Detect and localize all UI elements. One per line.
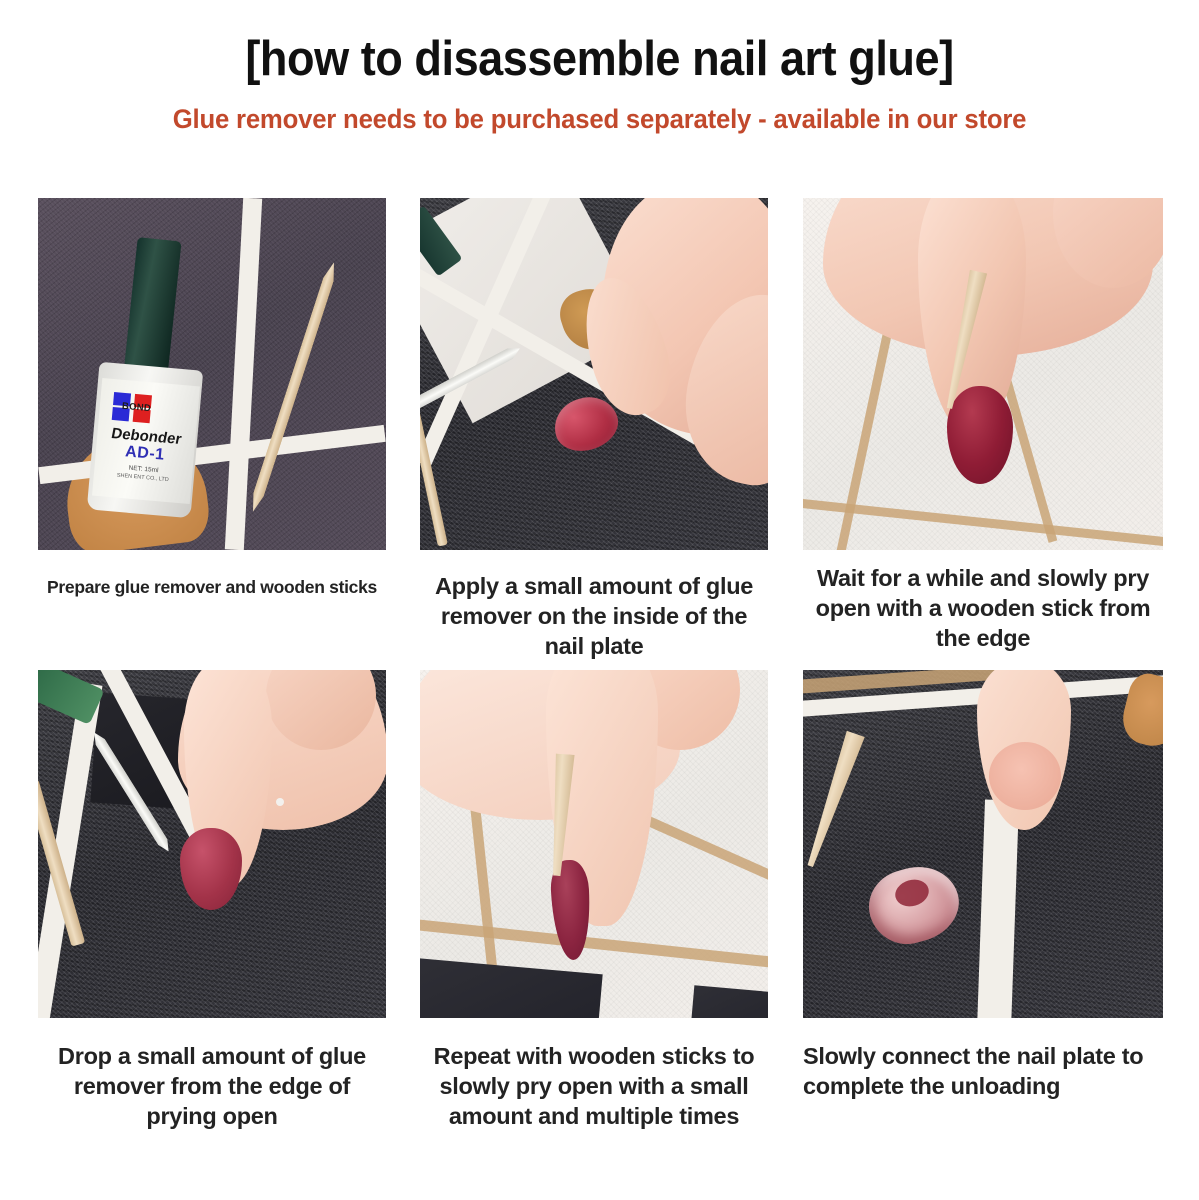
fingertip [989,742,1061,810]
step-3-caption: Wait for a while and slowly pry open wit… [803,564,1163,654]
steps-row-top: BOND Debonder AD-1 NET: 15ml SHEN ENT CO… [38,198,1163,550]
step-2-caption-wrap: Apply a small amount of glue remover on … [420,572,768,662]
step-1-photo: BOND Debonder AD-1 NET: 15ml SHEN ENT CO… [38,198,386,550]
step-1-caption: Prepare glue remover and wooden sticks [38,576,386,598]
steps-grid: BOND Debonder AD-1 NET: 15ml SHEN ENT CO… [38,198,1163,1132]
surface-speck [276,798,284,806]
step-card-1: BOND Debonder AD-1 NET: 15ml SHEN ENT CO… [38,198,386,550]
page-subtitle: Glue remover needs to be purchased separ… [18,104,1181,135]
step-2-photo [420,198,768,550]
step-4-caption-wrap: Drop a small amount of glue remover from… [38,1042,386,1132]
step-card-5: Repeat with wooden sticks to slowly pry … [420,670,768,1132]
step-5-caption-wrap: Repeat with wooden sticks to slowly pry … [420,1042,768,1132]
step-6-photo [803,670,1163,1018]
step-2-caption: Apply a small amount of glue remover on … [420,572,768,662]
bottle-label: BOND Debonder AD-1 NET: 15ml SHEN ENT CO… [92,378,200,504]
step-5-photo [420,670,768,1018]
page-title: [how to disassemble nail art glue] [48,34,1151,85]
step-4-photo [38,670,386,1018]
step-6-caption-wrap: Slowly connect the nail plate to complet… [803,1042,1163,1102]
step-4-caption: Drop a small amount of glue remover from… [38,1042,386,1132]
step-6-caption: Slowly connect the nail plate to complet… [803,1042,1163,1102]
step-3-caption-wrap: Wait for a while and slowly pry open wit… [803,564,1163,654]
header: [how to disassemble nail art glue] Glue … [0,0,1199,135]
dark-panel-patch-right [690,985,768,1018]
step-card-4: Drop a small amount of glue remover from… [38,670,386,1132]
steps-row-bottom: Drop a small amount of glue remover from… [38,670,1163,1132]
step-3-photo [803,198,1163,550]
step-card-3: Wait for a while and slowly pry open wit… [803,198,1163,550]
step-5-caption: Repeat with wooden sticks to slowly pry … [420,1042,768,1132]
step-card-6: Slowly connect the nail plate to complet… [803,670,1163,1132]
infographic-page: [how to disassemble nail art glue] Glue … [0,0,1199,1200]
step-card-2: Apply a small amount of glue remover on … [420,198,768,550]
step-1-caption-wrap: Prepare glue remover and wooden sticks [38,576,386,598]
